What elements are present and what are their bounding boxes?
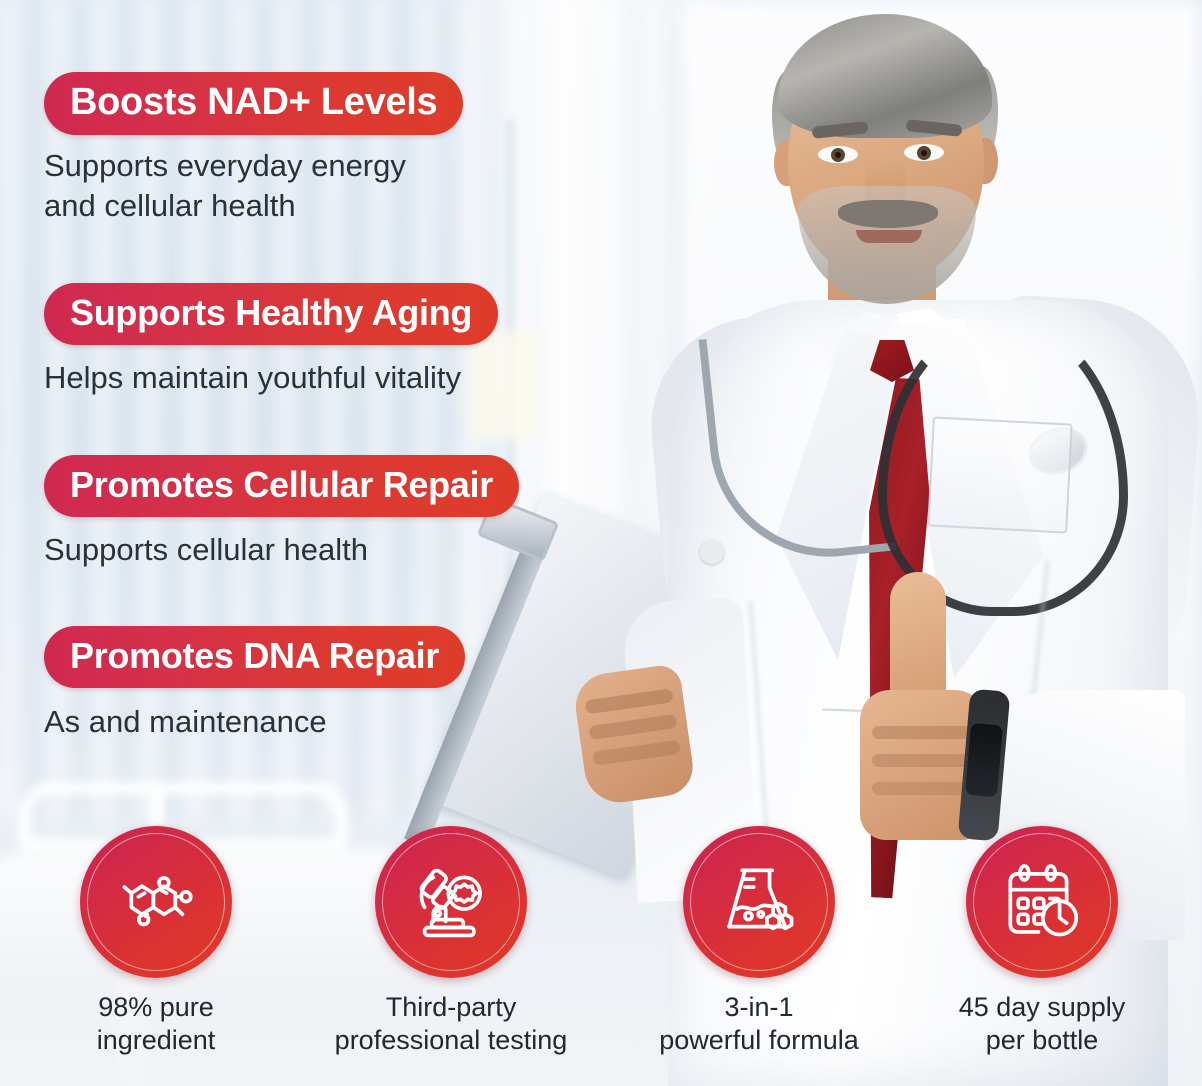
benefit-description: Supports everyday energy and cellular he… — [44, 146, 463, 225]
benefit-description: Helps maintain youthful vitality — [44, 358, 498, 398]
feature-badges: 98% pure ingredient Third-party professi… — [0, 826, 1202, 1086]
benefit-title-badge: Supports Healthy Aging — [44, 283, 498, 345]
mouth — [856, 230, 922, 243]
badge-label: 3-in-1 powerful formula — [609, 991, 909, 1057]
badge-circle — [966, 826, 1118, 978]
benefit-item-1: Boosts NAD+ Levels Supports everyday ene… — [44, 72, 463, 225]
microscope-icon — [407, 858, 495, 946]
benefit-title-badge: Boosts NAD+ Levels — [44, 72, 463, 135]
eye-left — [818, 146, 858, 163]
badge-circle — [80, 826, 232, 978]
badge-label: 98% pure ingredient — [6, 991, 306, 1057]
feature-badge-3: 3-in-1 powerful formula — [609, 826, 909, 1057]
hair — [778, 14, 992, 138]
stethoscope-earpiece — [700, 540, 724, 564]
benefit-item-2: Supports Healthy Aging Helps maintain yo… — [44, 283, 498, 398]
eye-right — [904, 144, 944, 161]
flask-honeycomb-icon — [715, 858, 803, 946]
molecule-icon — [112, 858, 200, 946]
calendar-clock-icon — [998, 858, 1086, 946]
feature-badge-4: 45 day supply per bottle — [892, 826, 1192, 1057]
benefit-title-badge: Promotes DNA Repair — [44, 626, 465, 688]
feature-badge-2: Third-party professional testing — [301, 826, 601, 1057]
benefit-description: As and maintenance — [44, 702, 465, 742]
iris-left — [831, 148, 845, 162]
hand-holding-clipboard — [571, 663, 696, 807]
benefit-item-4: Promotes DNA Repair As and maintenance — [44, 626, 465, 742]
badge-circle — [375, 826, 527, 978]
mustache — [838, 200, 938, 228]
badge-circle — [683, 826, 835, 978]
benefit-title-badge: Promotes Cellular Repair — [44, 455, 519, 517]
benefit-item-3: Promotes Cellular Repair Supports cellul… — [44, 455, 519, 570]
feature-badge-1: 98% pure ingredient — [6, 826, 306, 1057]
smartwatch-face — [965, 723, 1003, 798]
badge-label: 45 day supply per bottle — [892, 991, 1192, 1057]
benefit-description: Supports cellular health — [44, 530, 519, 570]
iris-right — [917, 146, 931, 160]
coat-chest-pocket — [927, 416, 1073, 533]
badge-label: Third-party professional testing — [301, 991, 601, 1057]
